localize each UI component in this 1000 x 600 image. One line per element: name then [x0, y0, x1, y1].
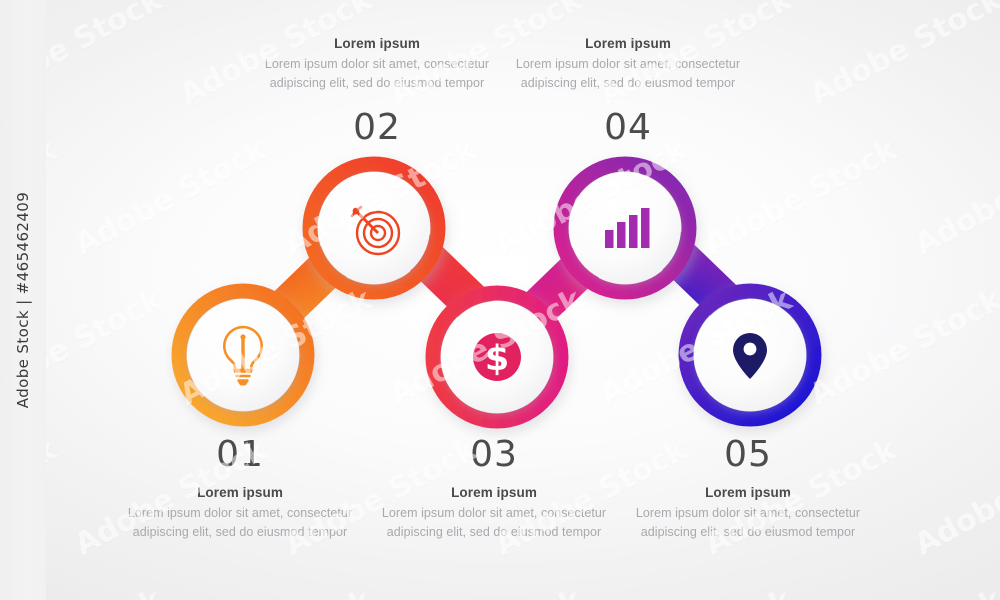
step-1-heading: Lorem ipsum	[110, 485, 370, 500]
infographic-canvas: $ Lorem ipsum Lorem ipsum dolor sit amet…	[0, 0, 1000, 600]
step-3-body: Lorem ipsum dolor sit amet, consectetur …	[364, 504, 624, 542]
step-4-heading: Lorem ipsum	[498, 36, 758, 51]
svg-text:$: $	[485, 339, 509, 379]
stock-id-label: Adobe Stock | #465462409	[14, 192, 32, 408]
step-4-text-group: Lorem ipsum Lorem ipsum dolor sit amet, …	[498, 36, 758, 148]
step-4-number: 04	[498, 107, 758, 148]
step-5-body: Lorem ipsum dolor sit amet, consectetur …	[618, 504, 878, 542]
stock-watermark-sidebar: Adobe Stock | #465462409	[0, 0, 46, 600]
step-2-heading: Lorem ipsum	[247, 36, 507, 51]
step-1-body: Lorem ipsum dolor sit amet, consectetur …	[110, 504, 370, 542]
step-2-body: Lorem ipsum dolor sit amet, consectetur …	[247, 55, 507, 93]
step-3-heading: Lorem ipsum	[364, 485, 624, 500]
step-5-number: 05	[618, 434, 878, 475]
step-2-text-group: Lorem ipsum Lorem ipsum dolor sit amet, …	[247, 36, 507, 148]
step-1-number: 01	[110, 434, 370, 475]
step-3-text-group: 03 Lorem ipsum Lorem ipsum dolor sit ame…	[364, 434, 624, 542]
step-2-number: 02	[247, 107, 507, 148]
step-5-heading: Lorem ipsum	[618, 485, 878, 500]
step-3-number: 03	[364, 434, 624, 475]
dollar-coin-icon: $	[473, 333, 521, 381]
step-1-text-group: 01 Lorem ipsum Lorem ipsum dolor sit ame…	[110, 434, 370, 542]
step-5-text-group: 05 Lorem ipsum Lorem ipsum dolor sit ame…	[618, 434, 878, 542]
step-4-body: Lorem ipsum dolor sit amet, consectetur …	[498, 55, 758, 93]
